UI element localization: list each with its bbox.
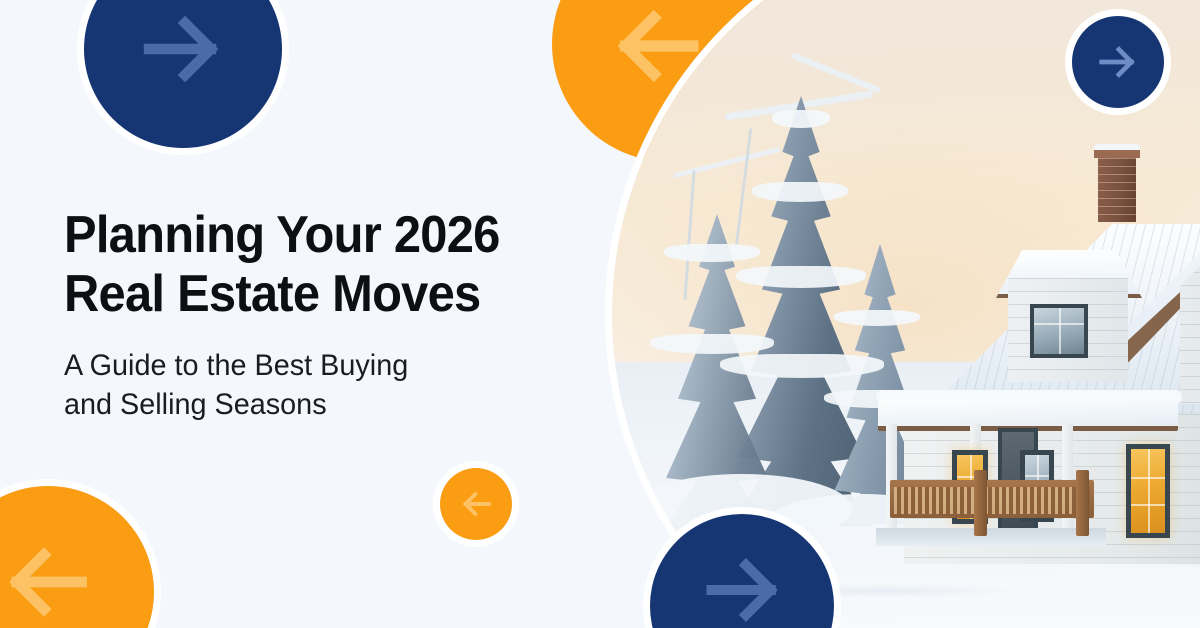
arrow-right-icon: [1095, 39, 1141, 85]
porch-railing: [890, 480, 1094, 518]
orange-circle-bottom-left: [0, 486, 154, 628]
snow-cap: [772, 110, 830, 128]
porch-floor: [876, 528, 1106, 546]
snow-cap: [720, 354, 884, 378]
arrow-left-icon: [458, 486, 494, 522]
window-lit: [1126, 444, 1170, 538]
headline-line-1: Planning Your 2026: [64, 206, 590, 265]
arrow-left-icon: [0, 532, 96, 628]
snow-cap: [736, 266, 866, 288]
text-block: Planning Your 2026 Real Estate Moves A G…: [64, 206, 624, 424]
headline-line-2: Real Estate Moves: [64, 265, 590, 324]
house: [912, 128, 1200, 558]
blog-banner: Planning Your 2026 Real Estate Moves A G…: [0, 0, 1200, 628]
arrow-right-icon: [135, 1, 231, 97]
subtitle-line-2: and Selling Seasons: [64, 385, 602, 424]
orange-circle-small: [440, 468, 512, 540]
porch-post: [974, 470, 987, 536]
navy-circle-top-left: [84, 0, 282, 148]
arrow-right-icon: [698, 544, 790, 628]
dormer-window: [1030, 304, 1088, 358]
porch-roof: [878, 400, 1178, 431]
snow-cap: [664, 244, 760, 262]
porch-post: [1076, 470, 1089, 536]
snow-cap: [650, 334, 774, 354]
snow-cap: [752, 182, 848, 202]
page-subtitle: A Guide to the Best Buying and Selling S…: [64, 346, 602, 424]
navy-circle-top-right: [1072, 16, 1164, 108]
subtitle-line-1: A Guide to the Best Buying: [64, 346, 602, 385]
snow-cap: [834, 310, 920, 326]
brick-chimney: [1098, 150, 1136, 222]
page-title: Planning Your 2026 Real Estate Moves: [64, 206, 590, 324]
